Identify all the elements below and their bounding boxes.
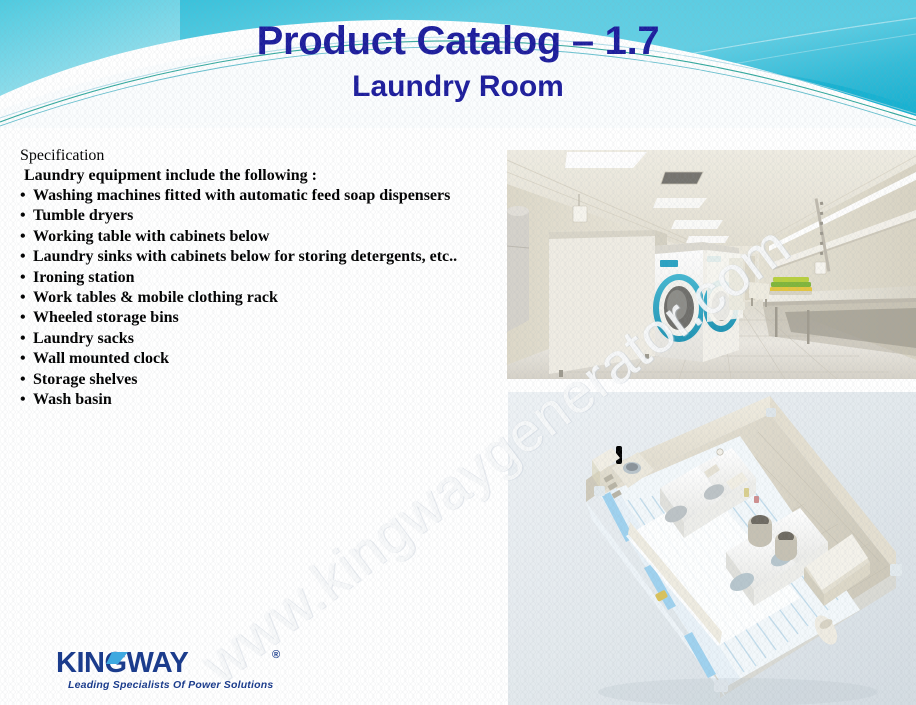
- logo-wordmark: KINGWAY: [56, 647, 189, 679]
- specification-item: Work tables & mobile clothing rack: [20, 288, 480, 308]
- specification-item: Tumble dryers: [20, 206, 480, 226]
- specification-item: Ironing station: [20, 268, 480, 288]
- page-subtitle: Laundry Room: [0, 68, 916, 106]
- kingway-logo: KINGWAY ® Leading Specialists Of Power S…: [56, 646, 296, 694]
- specification-item: Wall mounted clock: [20, 349, 480, 369]
- slide-product-catalog-laundry-room: Product Catalog – 1.7 Laundry Room Speci…: [0, 0, 916, 705]
- specification-block: Specification Laundry equipment include …: [20, 146, 480, 410]
- specification-item: Wheeled storage bins: [20, 308, 480, 328]
- logo-registered-mark: ®: [272, 649, 280, 661]
- specification-heading: Specification: [20, 146, 480, 166]
- specification-item: Wash basin: [20, 390, 480, 410]
- logo-tagline: Leading Specialists Of Power Solutions: [68, 679, 273, 691]
- laundry-room-photo: [507, 150, 916, 379]
- page-title: Product Catalog – 1.7: [0, 18, 916, 64]
- title-block: Product Catalog – 1.7 Laundry Room: [0, 18, 916, 106]
- specification-item: Laundry sinks with cabinets below for st…: [20, 247, 480, 267]
- specification-intro: Laundry equipment include the following …: [20, 166, 480, 186]
- specification-item: Storage shelves: [20, 370, 480, 390]
- specification-item: Laundry sacks: [20, 329, 480, 349]
- laundry-room-photo-graphic: [507, 150, 916, 379]
- container-laundry-3d-render: [508, 392, 916, 705]
- specification-item: Working table with cabinets below: [20, 227, 480, 247]
- specification-list: Washing machines fitted with automatic f…: [20, 186, 480, 410]
- header-banner: Product Catalog – 1.7 Laundry Room: [0, 0, 916, 128]
- specification-item: Washing machines fitted with automatic f…: [20, 186, 480, 206]
- kingway-logo-graphic: KINGWAY ® Leading Specialists Of Power S…: [56, 646, 296, 694]
- container-laundry-3d-render-graphic: [508, 392, 916, 705]
